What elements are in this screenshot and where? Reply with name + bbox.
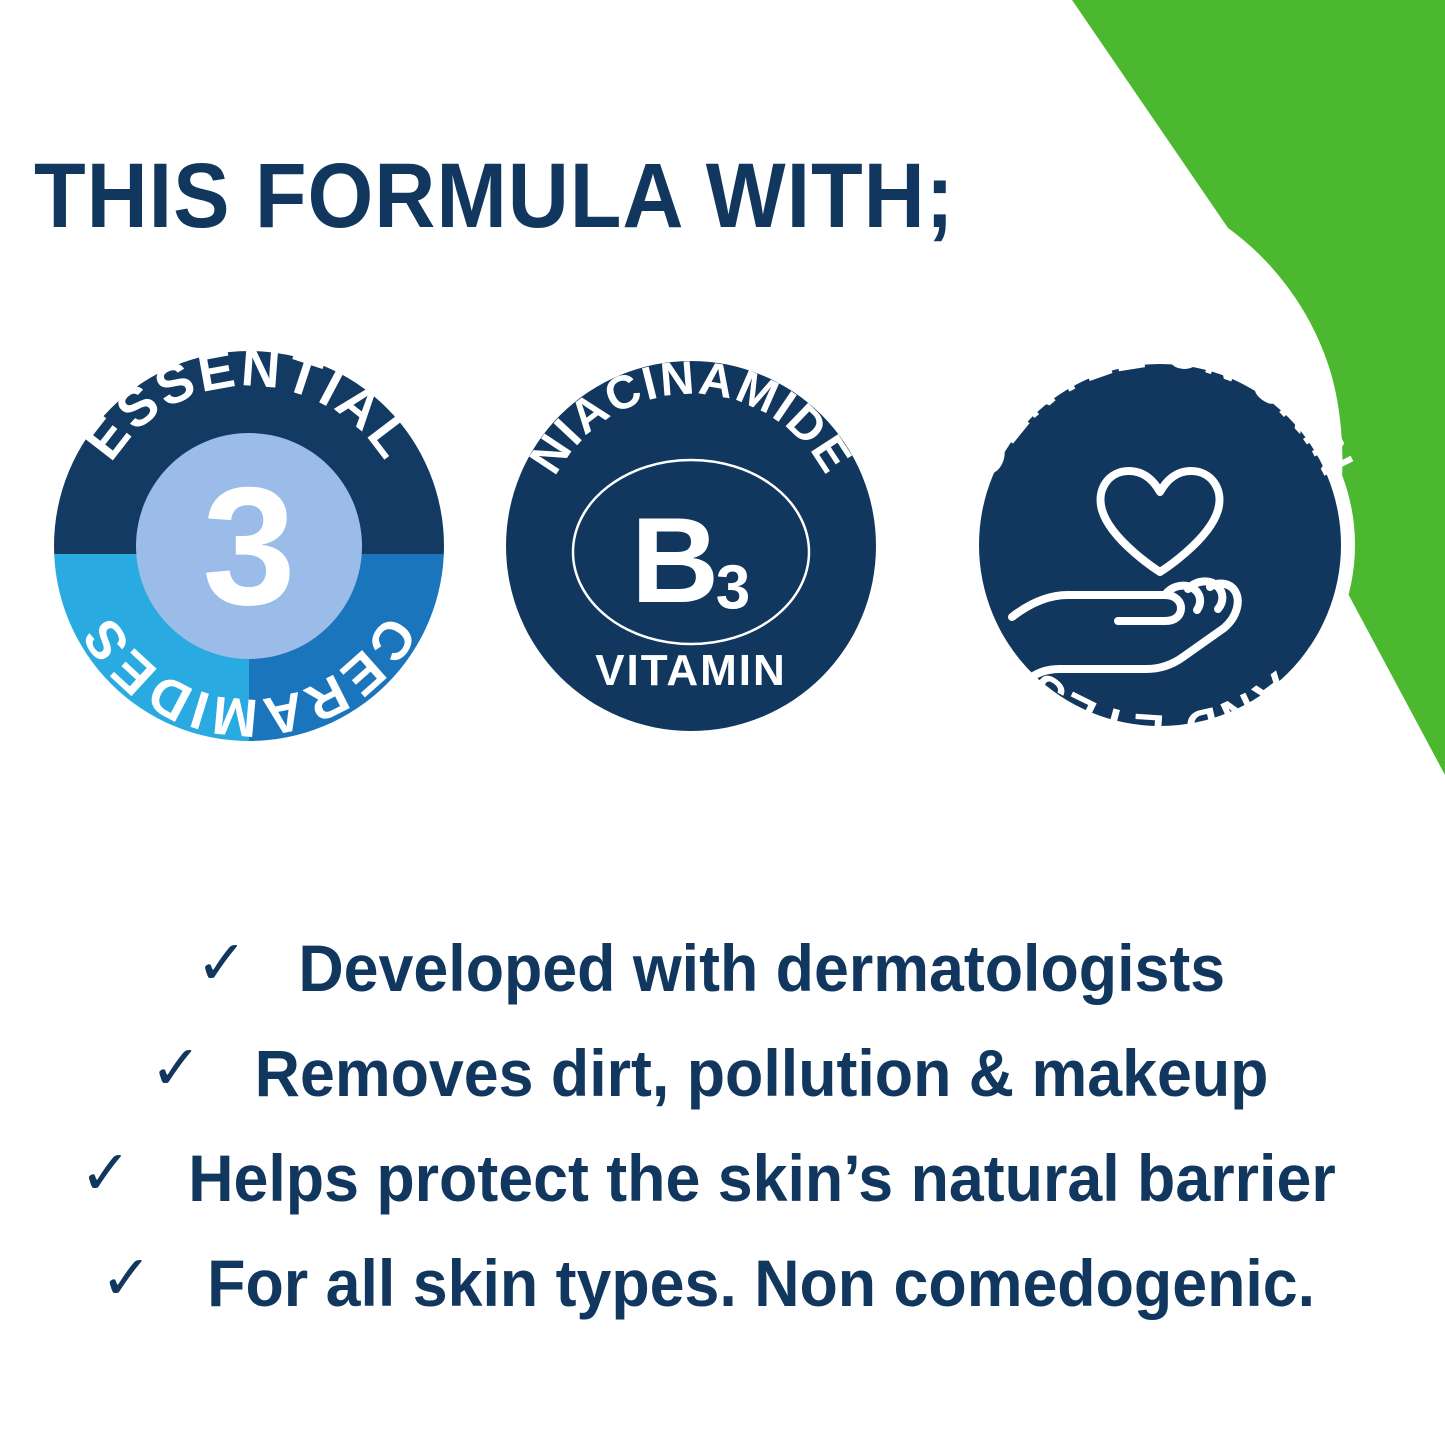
check-icon: ✓ [196, 933, 248, 995]
check-icon: ✓ [150, 1038, 202, 1100]
badge-row: 3 ESSENTIAL CERAMIDES NIACINAMIDE B 3 VI… [0, 0, 1445, 800]
list-item: ✓ Removes dirt, pollution & makeup [0, 1020, 1445, 1125]
list-item-label: For all skin types. Non comedogenic. [208, 1245, 1316, 1321]
list-item-label: Removes dirt, pollution & makeup [255, 1035, 1269, 1111]
badge2-center-subscript: 3 [716, 554, 750, 623]
badge2-center-letter: B [631, 492, 719, 628]
badge-niacinamide-b3: NIACINAMIDE B 3 VITAMIN [505, 360, 877, 732]
badge2-bottom-text: VITAMIN [595, 646, 787, 695]
check-icon: ✓ [100, 1248, 152, 1310]
benefits-list: ✓ Developed with dermatologists ✓ Remove… [0, 915, 1445, 1335]
badge1-center-number: 3 [202, 452, 295, 640]
list-item: ✓ Developed with dermatologists [0, 915, 1445, 1020]
infographic-canvas: THIS FORMULA WITH; 3 ESSENTIAL CERAMIDES [0, 0, 1445, 1445]
check-icon: ✓ [80, 1143, 132, 1205]
list-item: ✓ Helps protect the skin’s natural barri… [0, 1125, 1445, 1230]
list-item-label: Developed with dermatologists [298, 930, 1225, 1006]
list-item-label: Helps protect the skin’s natural barrier [188, 1140, 1336, 1216]
list-item: ✓ For all skin types. Non comedogenic. [0, 1230, 1445, 1335]
badge-gentle-on-skin-and-eyes: GENTLE ON SKIN AND EYES [960, 345, 1360, 745]
badge-essential-3-ceramides: 3 ESSENTIAL CERAMIDES [53, 350, 445, 742]
